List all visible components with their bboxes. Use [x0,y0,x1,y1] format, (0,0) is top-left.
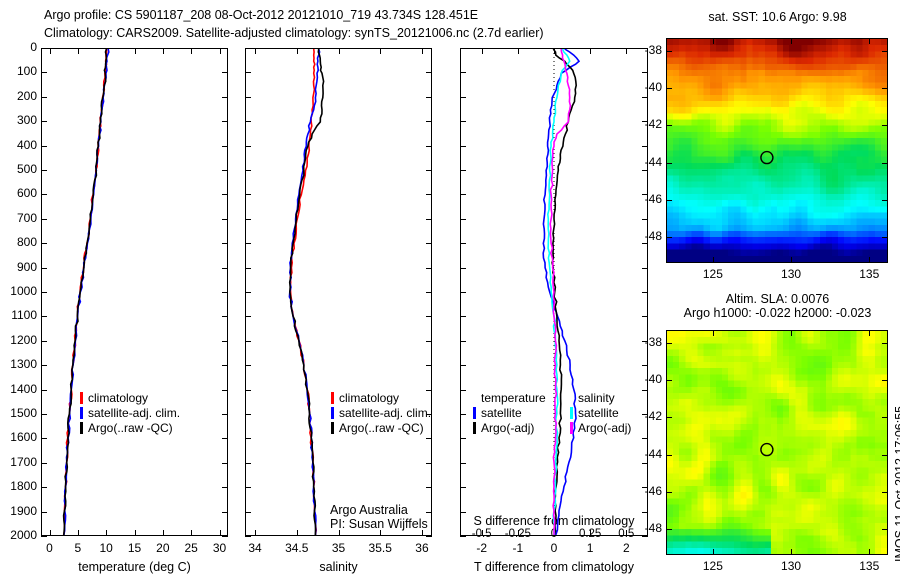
legend-label: Argo(..raw -QC) [339,421,424,435]
depth-tick-label: 200 [0,89,37,103]
depth-tick-label: 1100 [0,308,37,322]
legend-label: climatology [88,391,148,405]
map-lat-tick [666,88,672,89]
legend-label: Argo(..raw -QC) [88,421,173,435]
difference-curves [461,49,647,535]
depth-tick-label: 600 [0,186,37,200]
depth-tick-label: 1600 [0,430,37,444]
depth-tick-label: 800 [0,235,37,249]
map-lat-tick [666,417,672,418]
argo-australia-annotation: Argo Australia PI: Susan Wijffels [330,503,428,531]
legend-swatch [331,392,334,404]
legend-label: Argo(-adj) [481,421,534,435]
map-lat-tick [666,125,672,126]
x-tick-label: 2 [596,541,656,555]
legend-swatch [80,392,83,404]
salinity-axis-label: salinity [245,560,432,574]
depth-tick-label: 1800 [0,479,37,493]
legend-swatch [473,407,476,419]
map-lat-tick [666,343,672,344]
legend-label: satellite-adj. clim. [88,406,180,420]
map-lat-tick [882,88,888,89]
sla-map-header: Altim. SLA: 0.0076 Argo h1000: -0.022 h2… [655,292,900,320]
salinity-curves [246,49,431,535]
legend-swatch [80,407,83,419]
depth-tick-label: 1500 [0,406,37,420]
temperature-curves [42,49,227,535]
map-lat-tick [882,343,888,344]
sla-header-line1: Altim. SLA: 0.0076 [726,292,830,306]
depth-tick-label: 1000 [0,284,37,298]
map-lat-label: -40 [630,80,662,94]
map-lat-tick [666,163,672,164]
map-lat-tick [666,51,672,52]
depth-tick-label: 1300 [0,357,37,371]
map-lat-tick [882,417,888,418]
legend-swatch [473,422,476,434]
map-lat-label: -44 [630,447,662,461]
depth-tick [41,536,47,537]
map-lat-tick [882,529,888,530]
map-lon-tick [791,38,792,44]
depth-tick-label: 400 [0,138,37,152]
map-lon-label: 125 [683,559,743,573]
legend-swatch [570,422,573,434]
map-lon-label: 130 [761,267,821,281]
map-lat-tick [666,200,672,201]
temperature-axis-label: temperature (deg C) [41,560,228,574]
map-lat-tick [882,125,888,126]
sst-map[interactable] [666,38,888,263]
map-lat-tick [882,200,888,201]
difference-axis-label-bottom: T difference from climatology [455,560,653,574]
map-lon-tick [869,257,870,263]
legend-swatch [331,407,334,419]
map-lat-label: -48 [630,521,662,535]
map-lat-tick [882,163,888,164]
depth-tick-label: 1900 [0,504,37,518]
page-title-line2: Climatology: CARS2009. Satellite-adjuste… [44,26,544,40]
legend-label: satellite [481,406,522,420]
legend-label: Argo(-adj) [578,421,631,435]
depth-tick-label: 1200 [0,333,37,347]
depth-tick [222,536,228,537]
map-lon-label: 130 [761,559,821,573]
depth-tick-label: 700 [0,211,37,225]
depth-tick-label: 1400 [0,382,37,396]
legend-swatch [570,407,573,419]
map-lon-tick [869,38,870,44]
map-lon-tick [713,330,714,336]
map-lon-tick [713,38,714,44]
map-lat-tick [882,380,888,381]
legend-label: satellite [578,406,619,420]
legend-header: salinity [578,391,615,405]
map-lon-tick [713,257,714,263]
sla-map[interactable] [666,330,888,555]
sst-map-header: sat. SST: 10.6 Argo: 9.98 [660,10,895,24]
map-lat-tick [666,237,672,238]
map-lat-tick [882,455,888,456]
map-lat-tick [882,492,888,493]
map-lon-tick [869,549,870,555]
map-lat-label: -38 [630,335,662,349]
map-lat-label: -38 [630,43,662,57]
map-lon-tick [791,549,792,555]
map-lat-tick [882,237,888,238]
map-lat-label: -46 [630,484,662,498]
x-tick-label: 36 [392,541,452,555]
map-lat-tick [882,51,888,52]
map-lon-label: 135 [839,267,899,281]
map-lon-tick [869,330,870,336]
map-lat-tick [666,529,672,530]
page-title-line1: Argo profile: CS 5901187_208 08-Oct-2012… [44,8,478,22]
map-lat-tick [666,492,672,493]
map-lat-tick [666,455,672,456]
imos-watermark: IMOS 11-Oct-2012 17:06:55 [893,406,900,562]
depth-tick-label: 900 [0,260,37,274]
map-lon-tick [791,330,792,336]
annotation-line1: Argo Australia [330,503,408,517]
legend-header: temperature [481,391,546,405]
sla-header-line2: Argo h1000: -0.022 h2000: -0.023 [684,306,872,320]
map-lon-label: 135 [839,559,899,573]
depth-tick-label: 300 [0,113,37,127]
legend-label: satellite-adj. clim. [339,406,431,420]
depth-tick-label: 0 [0,40,37,54]
depth-tick-label: 100 [0,64,37,78]
annotation-line2: PI: Susan Wijffels [330,517,428,531]
legend-swatch [331,422,334,434]
depth-tick-label: 500 [0,162,37,176]
map-lat-label: -48 [630,229,662,243]
map-lon-label: 125 [683,267,743,281]
depth-tick [426,536,432,537]
map-lat-label: -42 [630,117,662,131]
map-lat-label: -44 [630,155,662,169]
map-lat-label: -40 [630,372,662,386]
depth-tick-label: 2000 [0,528,37,542]
map-lat-label: -42 [630,409,662,423]
depth-tick [245,536,251,537]
legend-swatch [80,422,83,434]
legend-label: climatology [339,391,399,405]
map-lon-tick [713,549,714,555]
map-lat-tick [666,380,672,381]
map-lon-tick [791,257,792,263]
depth-tick-label: 1700 [0,455,37,469]
map-lat-label: -46 [630,192,662,206]
